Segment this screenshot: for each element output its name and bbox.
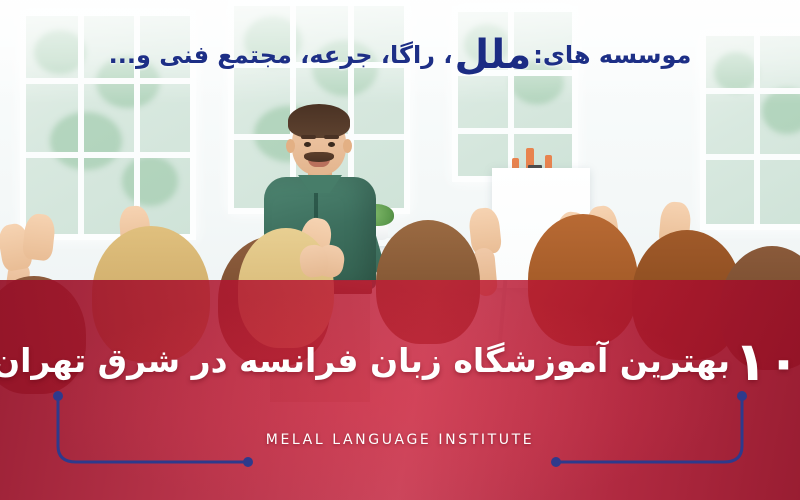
- brand-name-melal: ملل: [454, 32, 531, 78]
- presenter-moustache: [304, 152, 334, 162]
- top-headline-suffix: ، راگا، جرعه، مجتمع فنی و...: [109, 41, 453, 69]
- presenter-ear: [343, 139, 352, 153]
- promo-banner: موسسه های:ملل، راگا، جرعه، مجتمع فنی و..…: [0, 0, 800, 500]
- top-headline-prefix: موسسه های:: [533, 41, 691, 69]
- presenter-eyebrow: [301, 135, 316, 139]
- main-title-text: بهترین آموزشگاه زبان فرانسه در شرق تهران: [0, 341, 730, 380]
- rank-number: ۱۰: [734, 330, 800, 393]
- presenter-eye: [328, 142, 335, 147]
- top-headline: موسسه های:ملل، راگا، جرعه، مجتمع فنی و..…: [0, 30, 800, 80]
- presenter-eyebrow: [324, 135, 339, 139]
- main-title: ۱۰بهترین آموزشگاه زبان فرانسه در شرق تهر…: [0, 330, 800, 395]
- presenter-eye: [304, 142, 311, 147]
- presenter-ear: [286, 139, 295, 153]
- institute-name: MELAL LANGUAGE INSTITUTE: [0, 432, 800, 448]
- presenter-hair: [288, 104, 350, 138]
